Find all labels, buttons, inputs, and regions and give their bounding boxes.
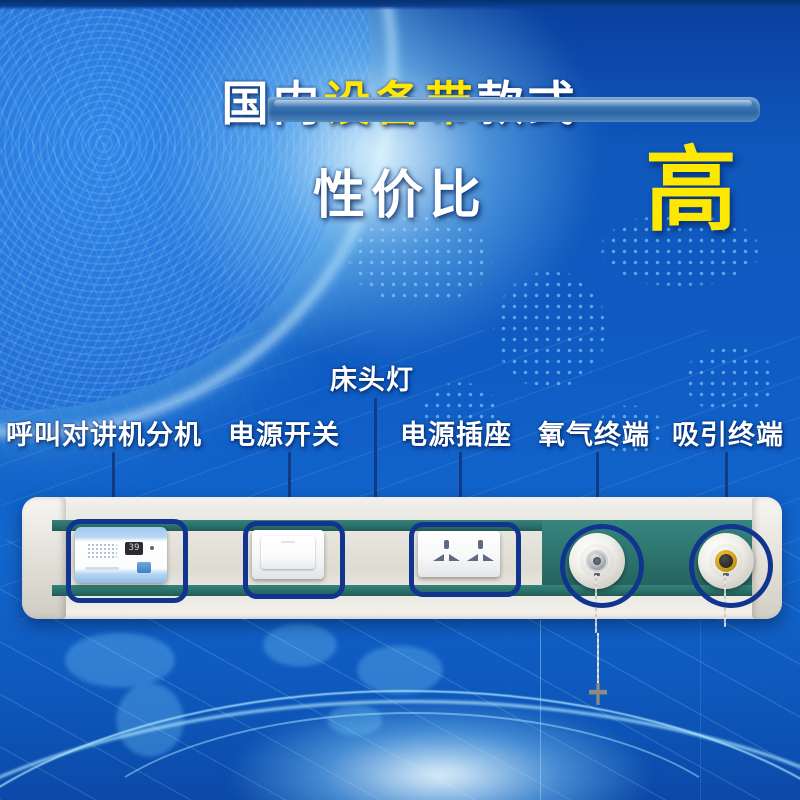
callout-oxygen-terminal: 氧气终端 [538,413,650,452]
big-accent-character: 高 [645,145,737,237]
callout-nurse-call-intercom: 呼叫对讲机分机 [6,413,202,452]
bed-lamp-gloss [274,100,752,107]
highlight-outline-power-switch [243,521,345,599]
highlight-outline-oxygen-terminal [560,524,644,608]
callout-power-socket: 电源插座 [400,413,512,452]
callout-suction-terminal: 吸引终端 [672,413,784,452]
highlight-outline-power-socket [409,522,521,597]
panel-end-cap-left [22,497,66,619]
callout-bed-lamp: 床头灯 [330,358,414,397]
promo-image-root: 国内设备带款式 性价比 高 呼叫对讲机分机 电源开关 床头灯 电源插座 氧气终端… [0,0,800,800]
highlight-outline-intercom [66,519,188,603]
pull-cord [597,633,599,687]
grid-vertical-line [700,620,701,800]
highlight-outline-suction-terminal [689,524,773,608]
top-dark-band [0,0,800,10]
grid-vertical-line [540,620,541,800]
callout-power-switch: 电源开关 [228,413,340,452]
